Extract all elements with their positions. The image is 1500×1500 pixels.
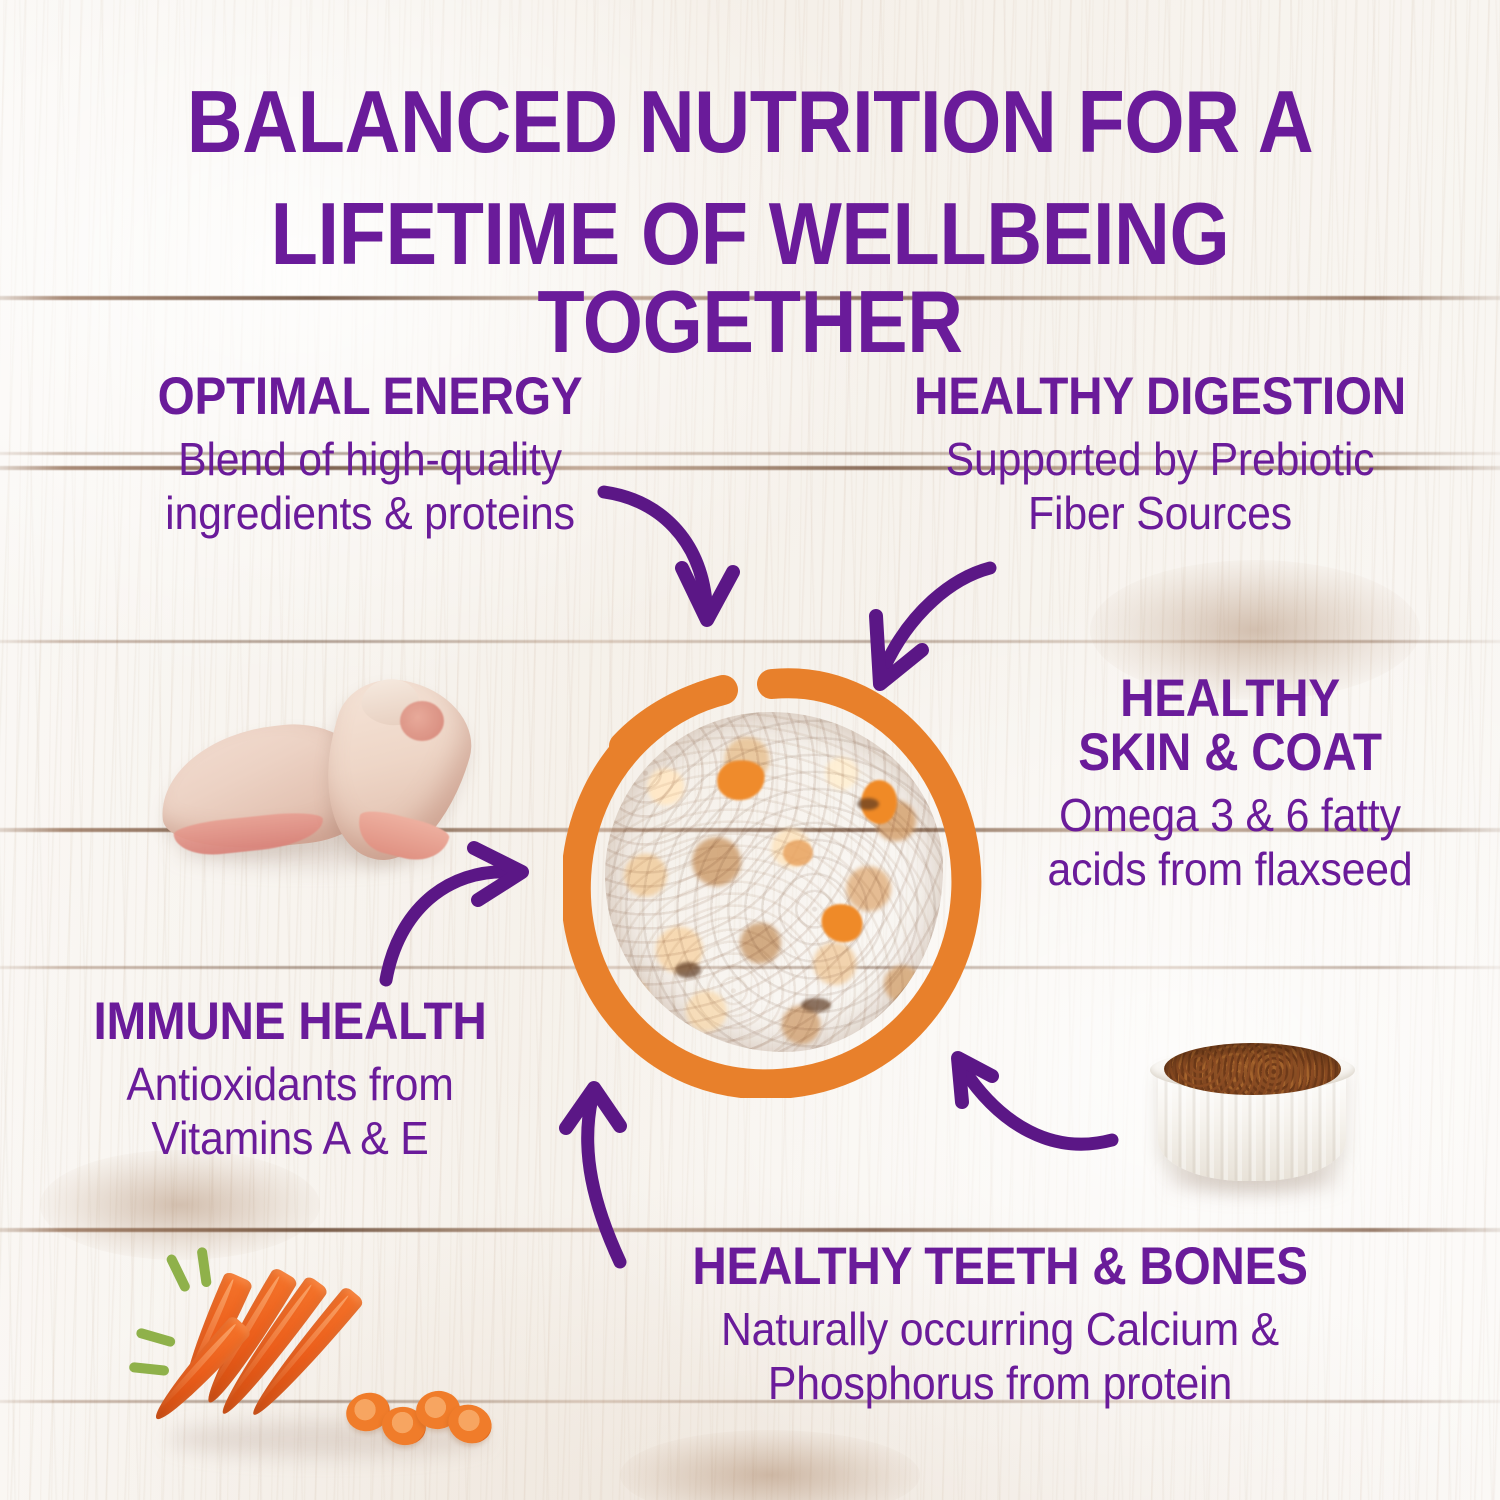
benefit-optimal-energy: OPTIMAL ENERGY Blend of high-quality ing… [60, 370, 680, 539]
benefit-body-line-1: Blend of high-quality [82, 434, 659, 486]
page-title-line-1: BALANCED NUTRITION FOR A [90, 78, 1410, 166]
raw-chicken-photo [150, 665, 470, 880]
benefit-title-line-2: SKIN & COAT [1005, 726, 1455, 780]
chicken-bone-end [400, 701, 444, 741]
carrots-photo [150, 1245, 520, 1490]
benefit-title: HEALTHY DIGESTION [872, 370, 1448, 424]
carrot-top [196, 1247, 211, 1288]
benefit-healthy-teeth-and-bones: HEALTHY TEETH & BONES Naturally occurrin… [600, 1240, 1400, 1409]
flaxseed-fill [1164, 1043, 1341, 1095]
benefit-body-line-1: Supported by Prebiotic [862, 434, 1457, 486]
benefit-body-line-1: Antioxidants from [39, 1059, 541, 1111]
benefit-title: IMMUNE HEALTH [47, 995, 533, 1049]
carrot-top [165, 1253, 192, 1293]
benefit-body-line-1: Omega 3 & 6 fatty [998, 790, 1463, 842]
benefit-body-line-2: Fiber Sources [862, 488, 1457, 540]
benefit-title: OPTIMAL ENERGY [91, 370, 649, 424]
benefit-body-line-1: Naturally occurring Calcium & [628, 1304, 1372, 1356]
benefit-title: HEALTHY TEETH & BONES [640, 1240, 1360, 1294]
benefit-title-line-1: HEALTHY [1005, 672, 1455, 726]
benefit-body-line-2: Phosphorus from protein [628, 1358, 1372, 1410]
page-title-line-2: LIFETIME OF WELLBEING TOGETHER [90, 190, 1410, 366]
benefit-body-line-2: Vitamins A & E [39, 1113, 541, 1165]
flaxseed-ramekin-photo [1150, 1015, 1355, 1195]
infographic-poster: BALANCED NUTRITION FOR A LIFETIME OF WEL… [0, 0, 1500, 1500]
benefit-healthy-skin-and-coat: HEALTHY SKIN & COAT Omega 3 & 6 fatty ac… [980, 672, 1480, 895]
center-food-illustration [563, 668, 983, 1098]
benefit-healthy-digestion: HEALTHY DIGESTION Supported by Prebiotic… [840, 370, 1480, 539]
orange-highlight-circle-icon [563, 668, 983, 1098]
benefit-immune-health: IMMUNE HEALTH Antioxidants from Vitamins… [20, 995, 560, 1164]
benefit-body-line-2: acids from flaxseed [998, 844, 1463, 896]
benefit-body-line-2: ingredients & proteins [82, 488, 659, 540]
wood-knot [40, 1150, 320, 1260]
